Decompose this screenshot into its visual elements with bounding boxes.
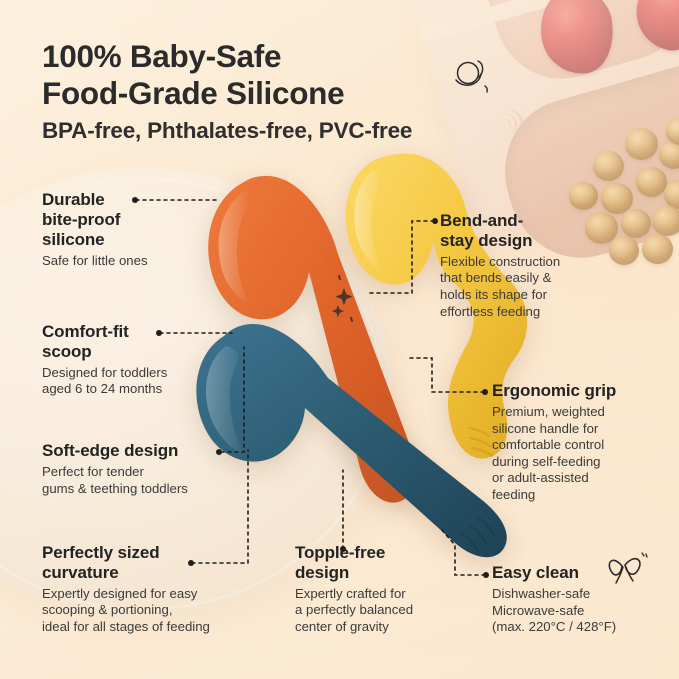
callout-body-line: aged 6 to 24 months — [42, 381, 167, 398]
leader-dot-ergonomic-grip — [482, 389, 488, 395]
cereal-puff — [593, 151, 624, 181]
callout-body-line: Expertly designed for easy — [42, 586, 210, 603]
sparkle-doodle-icon — [325, 272, 371, 328]
callout-body-line: during self-feeding — [492, 454, 616, 471]
callout-topple-free-design: Topple-free design Expertly crafted for … — [295, 543, 413, 636]
headline-line-1: 100% Baby-Safe — [42, 38, 512, 75]
callout-body-line: or adult-assisted — [492, 470, 616, 487]
headline-line-2: Food-Grade Silicone — [42, 75, 512, 112]
callout-body-line: ideal for all stages of feeding — [42, 619, 210, 636]
callout-title-line: Bend-and- — [440, 211, 560, 231]
callout-body-line: comfortable control — [492, 437, 616, 454]
callout-body-line: scooping & portioning, — [42, 602, 210, 619]
callout-body-line: holds its shape for — [440, 287, 560, 304]
callout-body-line: Expertly crafted for — [295, 586, 413, 603]
callout-title-line: curvature — [42, 563, 210, 583]
callout-soft-edge-design: Soft-edge design Perfect for tender gums… — [42, 441, 188, 497]
leader-dot-easy-clean — [483, 572, 489, 578]
leader-dot-bend-and-stay — [432, 218, 438, 224]
callout-body-line: that bends easily & — [440, 270, 560, 287]
callout-body-line: a perfectly balanced — [295, 602, 413, 619]
callout-title-line: Ergonomic grip — [492, 381, 616, 401]
callout-title-line: Easy clean — [492, 563, 616, 583]
callout-body-temperature: (max. 220°C / 428°F) — [492, 619, 616, 636]
cereal-puff — [636, 167, 667, 197]
callout-body-line: gums & teething toddlers — [42, 481, 188, 498]
callout-title-line: bite-proof — [42, 210, 148, 230]
callout-body-line: Dishwasher-safe — [492, 586, 616, 603]
leader-dot-soft-edge — [216, 449, 222, 455]
cereal-puff — [642, 234, 673, 264]
callout-title-line: Soft-edge design — [42, 441, 188, 461]
cereal-puff — [569, 182, 598, 210]
callout-body-line: silicone handle for — [492, 421, 616, 438]
callout-body-line: feeding — [492, 487, 616, 504]
cereal-puff — [652, 206, 679, 236]
callout-body-line: Premium, weighted — [492, 404, 616, 421]
cereal-puff — [601, 183, 633, 214]
headline-subline: BPA-free, Phthalates-free, PVC-free — [42, 118, 512, 144]
callout-title-line: Comfort-fit — [42, 322, 167, 342]
callout-title-line: stay design — [440, 231, 560, 251]
callout-title-line: design — [295, 563, 413, 583]
callout-title-line: scoop — [42, 342, 167, 362]
callout-body-line: center of gravity — [295, 619, 413, 636]
callout-easy-clean: Easy clean Dishwasher-safe Microwave-saf… — [492, 563, 616, 636]
callout-bend-and-stay-design: Bend-and- stay design Flexible construct… — [440, 211, 560, 320]
cereal-puff — [609, 236, 639, 265]
cereal-puff — [625, 128, 658, 160]
callout-title-line: Durable — [42, 190, 148, 210]
callout-title-line: Topple-free — [295, 543, 413, 563]
callout-title-line: silicone — [42, 230, 148, 250]
product-infographic: 100% Baby-Safe Food-Grade Silicone BPA-f… — [0, 0, 679, 679]
callout-body-line: Safe for little ones — [42, 253, 148, 270]
callout-comfort-fit-scoop: Comfort-fit scoop Designed for toddlers … — [42, 322, 167, 398]
callout-body-line: effortless feeding — [440, 304, 560, 321]
callout-body-line: Designed for toddlers — [42, 365, 167, 382]
callout-perfectly-sized-curvature: Perfectly sized curvature Expertly desig… — [42, 543, 210, 636]
callout-title-line: Perfectly sized — [42, 543, 210, 563]
callout-ergonomic-grip: Ergonomic grip Premium, weighted silicon… — [492, 381, 616, 504]
cereal-puff — [621, 209, 651, 238]
callout-body-line: Microwave-safe — [492, 603, 616, 620]
planet-doodle-icon — [451, 56, 493, 96]
callout-body-line: Perfect for tender — [42, 464, 188, 481]
callout-body-line: Flexible construction — [440, 254, 560, 271]
headline-block: 100% Baby-Safe Food-Grade Silicone BPA-f… — [42, 38, 512, 144]
callout-durable-bite-proof-silicone: Durable bite-proof silicone Safe for lit… — [42, 190, 148, 269]
